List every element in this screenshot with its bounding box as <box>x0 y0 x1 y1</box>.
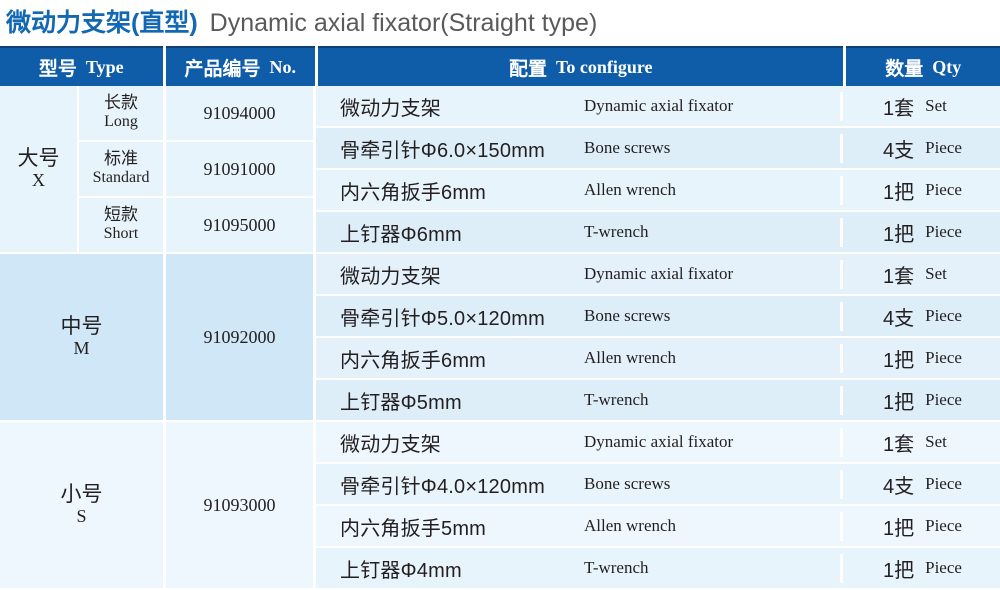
size-group-x: 大号 X 长款 Long 标准 Standard 短款 Short <box>0 86 1000 254</box>
product-no-m: 91092000 <box>166 254 313 420</box>
qty-cell: 1套 Set <box>840 260 1000 289</box>
config-en: Allen wrench <box>584 348 840 368</box>
qty-cn: 4支 <box>883 470 914 499</box>
product-no-s: 91093000 <box>166 422 313 588</box>
column-header-type: 型号 Type <box>0 46 163 86</box>
qty-en: Set <box>925 96 947 116</box>
config-en: Dynamic axial fixator <box>584 96 840 116</box>
product-no-short: 91095000 <box>166 198 313 252</box>
config-cn: 上钉器Φ5mm <box>316 386 584 415</box>
qty-en: Piece <box>925 348 962 368</box>
table-row: 微动力支架 Dynamic axial fixator 1套 Set <box>316 86 1000 128</box>
config-cn: 骨牵引针Φ6.0×150mm <box>316 134 584 163</box>
qty-cell: 1把 Piece <box>840 176 1000 205</box>
table-row: 内六角扳手6mm Allen wrench 1把 Piece <box>316 338 1000 380</box>
config-en: T-wrench <box>584 390 840 410</box>
config-rows-m: 微动力支架 Dynamic axial fixator 1套 Set 骨牵引针Φ… <box>313 254 1000 422</box>
qty-cell: 1把 Piece <box>840 386 1000 415</box>
column-header-configure: 配置 To configure <box>318 46 843 86</box>
config-cn: 上钉器Φ4mm <box>316 554 584 583</box>
page-title-chinese: 微动力支架(直型) <box>6 11 198 36</box>
qty-cell: 1套 Set <box>840 428 1000 457</box>
qty-cn: 1套 <box>883 260 914 289</box>
product-configuration-table: 型号 Type 产品编号 No. 配置 To configure 数量 Qty … <box>0 46 1000 590</box>
config-en: Dynamic axial fixator <box>584 264 840 284</box>
qty-cell: 4支 Piece <box>840 302 1000 331</box>
qty-en: Piece <box>925 516 962 536</box>
variant-column-x: 长款 Long 标准 Standard 短款 Short <box>77 86 163 252</box>
qty-en: Set <box>925 264 947 284</box>
table-row: 上钉器Φ4mm T-wrench 1把 Piece <box>316 548 1000 590</box>
config-rows-x: 微动力支架 Dynamic axial fixator 1套 Set 骨牵引针Φ… <box>313 86 1000 254</box>
qty-cn: 1把 <box>883 386 914 415</box>
variant-short: 短款 Short <box>79 198 163 252</box>
table-row: 骨牵引针Φ6.0×150mm Bone screws 4支 Piece <box>316 128 1000 170</box>
config-en: Bone screws <box>584 138 840 158</box>
qty-en: Piece <box>925 306 962 326</box>
qty-cell: 1把 Piece <box>840 512 1000 541</box>
qty-cn: 1套 <box>883 428 914 457</box>
qty-en: Piece <box>925 180 962 200</box>
variant-long: 长款 Long <box>79 86 163 142</box>
qty-cn: 1把 <box>883 176 914 205</box>
config-en: Dynamic axial fixator <box>584 432 840 452</box>
column-header-type-en: Type <box>86 57 124 78</box>
qty-cn: 1把 <box>883 512 914 541</box>
config-cn: 微动力支架 <box>316 260 584 289</box>
config-en: Allen wrench <box>584 516 840 536</box>
table-row: 骨牵引针Φ4.0×120mm Bone screws 4支 Piece <box>316 464 1000 506</box>
page-title-english: Dynamic axial fixator(Straight type) <box>210 11 598 36</box>
column-header-no-cn: 产品编号 <box>185 54 261 81</box>
variant-long-en: Long <box>104 113 138 131</box>
product-no-column-x: 91094000 91091000 91095000 <box>163 86 313 254</box>
qty-en: Piece <box>925 474 962 494</box>
qty-en: Piece <box>925 222 962 242</box>
qty-cn: 1把 <box>883 554 914 583</box>
page-title: 微动力支架(直型) Dynamic axial fixator(Straight… <box>0 0 1000 46</box>
config-cn: 微动力支架 <box>316 428 584 457</box>
product-no-long: 91094000 <box>166 86 313 142</box>
qty-cn: 4支 <box>883 134 914 163</box>
config-en: T-wrench <box>584 558 840 578</box>
size-label-m-cn: 中号 <box>61 315 103 339</box>
config-en: Bone screws <box>584 306 840 326</box>
column-header-configure-cn: 配置 <box>509 54 547 81</box>
qty-en: Piece <box>925 390 962 410</box>
config-cn: 微动力支架 <box>316 92 584 121</box>
size-label-m: 中号 M <box>43 315 120 359</box>
qty-cell: 4支 Piece <box>840 470 1000 499</box>
size-label-s-en: S <box>76 506 86 527</box>
table-row: 上钉器Φ5mm T-wrench 1把 Piece <box>316 380 1000 422</box>
size-label-x: 大号 X <box>0 86 77 252</box>
size-cell-x: 大号 X 长款 Long 标准 Standard 短款 Short <box>0 86 163 254</box>
qty-cell: 1把 Piece <box>840 344 1000 373</box>
size-cell-m: 中号 M <box>0 254 163 422</box>
qty-en: Set <box>925 432 947 452</box>
table-row: 上钉器Φ6mm T-wrench 1把 Piece <box>316 212 1000 254</box>
size-label-m-en: M <box>73 338 89 359</box>
variant-standard-en: Standard <box>93 169 150 187</box>
product-no-standard: 91091000 <box>166 142 313 198</box>
qty-en: Piece <box>925 138 962 158</box>
config-en: Allen wrench <box>584 180 840 200</box>
column-header-no-en: No. <box>270 57 297 78</box>
column-header-type-cn: 型号 <box>39 54 77 81</box>
table-row: 内六角扳手6mm Allen wrench 1把 Piece <box>316 170 1000 212</box>
column-header-qty: 数量 Qty <box>846 46 1000 86</box>
config-cn: 内六角扳手6mm <box>316 344 584 373</box>
table-row: 内六角扳手5mm Allen wrench 1把 Piece <box>316 506 1000 548</box>
table-row: 微动力支架 Dynamic axial fixator 1套 Set <box>316 254 1000 296</box>
column-header-configure-en: To configure <box>556 57 653 78</box>
qty-cn: 1套 <box>883 92 914 121</box>
variant-standard-cn: 标准 <box>104 150 138 169</box>
column-header-qty-cn: 数量 <box>885 54 923 81</box>
config-cn: 内六角扳手5mm <box>316 512 584 541</box>
variant-short-cn: 短款 <box>104 206 138 225</box>
config-cn: 上钉器Φ6mm <box>316 218 584 247</box>
column-header-qty-en: Qty <box>932 57 961 78</box>
table-body: 大号 X 长款 Long 标准 Standard 短款 Short <box>0 86 1000 590</box>
config-cn: 骨牵引针Φ4.0×120mm <box>316 470 584 499</box>
qty-cell: 1把 Piece <box>840 218 1000 247</box>
qty-cn: 1把 <box>883 344 914 373</box>
qty-cell: 1套 Set <box>840 92 1000 121</box>
config-cn: 骨牵引针Φ5.0×120mm <box>316 302 584 331</box>
config-en: Bone screws <box>584 474 840 494</box>
product-no-column-m: 91092000 <box>163 254 313 422</box>
size-label-s: 小号 S <box>43 483 120 527</box>
qty-cell: 4支 Piece <box>840 134 1000 163</box>
qty-cn: 1把 <box>883 218 914 247</box>
variant-long-cn: 长款 <box>104 94 138 113</box>
qty-cell: 1把 Piece <box>840 554 1000 583</box>
table-row: 骨牵引针Φ5.0×120mm Bone screws 4支 Piece <box>316 296 1000 338</box>
config-cn: 内六角扳手6mm <box>316 176 584 205</box>
qty-en: Piece <box>925 558 962 578</box>
variant-standard: 标准 Standard <box>79 142 163 198</box>
size-label-x-cn: 大号 <box>18 147 60 171</box>
size-label-x-en: X <box>32 170 45 191</box>
column-header-no: 产品编号 No. <box>166 46 316 86</box>
config-rows-s: 微动力支架 Dynamic axial fixator 1套 Set 骨牵引针Φ… <box>313 422 1000 590</box>
qty-cn: 4支 <box>883 302 914 331</box>
config-en: T-wrench <box>584 222 840 242</box>
table-header-row: 型号 Type 产品编号 No. 配置 To configure 数量 Qty <box>0 46 1000 86</box>
size-group-s: 小号 S 91093000 微动力支架 Dynamic axial fixato… <box>0 422 1000 590</box>
size-group-m: 中号 M 91092000 微动力支架 Dynamic axial fixato… <box>0 254 1000 422</box>
variant-short-en: Short <box>104 225 139 243</box>
size-cell-s: 小号 S <box>0 422 163 590</box>
size-label-s-cn: 小号 <box>61 483 103 507</box>
product-no-column-s: 91093000 <box>163 422 313 590</box>
table-row: 微动力支架 Dynamic axial fixator 1套 Set <box>316 422 1000 464</box>
